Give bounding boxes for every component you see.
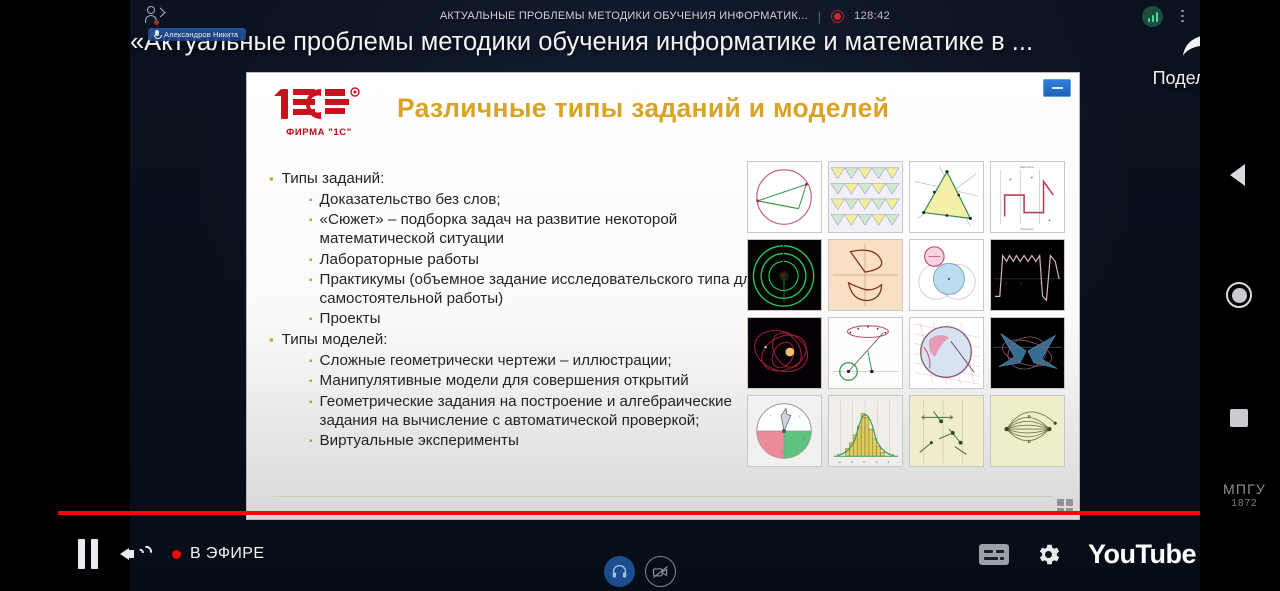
- sub-bullet-marker-icon: ▪: [309, 351, 313, 367]
- field-lines-sketch: [990, 395, 1065, 467]
- headphones-icon: [611, 563, 628, 580]
- bullet-item-text: Геометрические задания на построение и а…: [320, 392, 764, 430]
- bullet-item-text: Манипулятивные модели для совершения отк…: [320, 371, 689, 390]
- svg-text:-2: -2: [850, 460, 853, 464]
- bullet-item: ▪ Лабораторные работы: [309, 250, 764, 269]
- svg-text:3: 3: [799, 414, 801, 418]
- logo-caption: ФИРМА "1С": [269, 127, 369, 138]
- svg-text:Минимум: Минимум: [1021, 227, 1034, 231]
- square-wave-plot: -202: [990, 239, 1065, 311]
- video-title: «Актуальные проблемы методики обучения и…: [130, 28, 1140, 57]
- pink-sphere-field: [909, 317, 984, 389]
- svg-text:2: 2: [876, 460, 878, 464]
- green-spiral-orbit: [747, 239, 822, 311]
- gear-icon[interactable]: [1035, 541, 1062, 568]
- bullet-marker-icon: ▪: [269, 169, 274, 186]
- subtitles-icon[interactable]: [979, 544, 1009, 565]
- pendulum-mechanism: [828, 317, 903, 389]
- svg-text:1: 1: [769, 412, 771, 416]
- svg-text:-2: -2: [1005, 282, 1008, 286]
- cardioid-curve: [828, 239, 903, 311]
- left-letterbox: [0, 0, 130, 591]
- red-orbit-rings: [747, 317, 822, 389]
- slide-title: Различные типы заданий и моделей: [397, 93, 1057, 124]
- logo-mark-1c: [269, 85, 369, 125]
- speaker-name-badge: Александров Никита: [148, 28, 246, 41]
- record-icon: [831, 10, 844, 23]
- camera-off-chip[interactable]: [645, 556, 676, 587]
- slide-body: ▪ Типы заданий: ▪ Доказательство без сло…: [247, 139, 1079, 519]
- svg-text:0: 0: [863, 460, 865, 464]
- camera-off-icon: [652, 565, 669, 579]
- sub-bullet-marker-icon: ▪: [309, 210, 313, 226]
- company-logo: ФИРМА "1С": [269, 85, 369, 138]
- tessellation-pattern: [828, 161, 903, 233]
- thumbnail-grid: Максимум Минимум: [747, 161, 1065, 467]
- presentation-slide[interactable]: ФИРМА "1С" Различные типы заданий и моде…: [246, 72, 1080, 520]
- bullet-item-text: «Сюжет» – подборка задач на развитие нек…: [320, 210, 764, 248]
- topbar-center-group: АКТУАЛЬНЫЕ ПРОБЛЕМЫ МЕТОДИКИ ОБУЧЕНИЯ ИН…: [280, 9, 1050, 24]
- media-chips: [604, 556, 676, 587]
- progress-fill: [58, 511, 1280, 515]
- nav-back-button[interactable]: [1230, 164, 1245, 186]
- probability-spinner: 12345: [747, 395, 822, 467]
- bullet-item-text: Виртуальные эксперименты: [320, 431, 519, 450]
- svg-text:5: 5: [781, 449, 783, 453]
- bullet-item: ▪ Проекты: [309, 309, 764, 328]
- nav-recents-button[interactable]: [1230, 409, 1248, 427]
- vector-field-sketch: [909, 395, 984, 467]
- normal-distribution-histogram: -4-2024: [828, 395, 903, 467]
- meeting-title: АКТУАЛЬНЫЕ ПРОБЛЕМЫ МЕТОДИКИ ОБУЧЕНИЯ ИН…: [440, 10, 808, 22]
- triangle-construction: [909, 161, 984, 233]
- video-progress-bar[interactable]: [0, 509, 1280, 517]
- slide-divider: [273, 496, 1053, 497]
- topbar-left-group: [130, 5, 280, 27]
- bullet-item: ▪ Практикумы (объемное задание исследова…: [309, 270, 764, 308]
- live-indicator[interactable]: В ЭФИРЕ: [172, 545, 264, 563]
- svg-text:Максимум: Максимум: [1020, 165, 1034, 169]
- sub-bullet-marker-icon: ▪: [309, 190, 313, 206]
- sub-bullet-marker-icon: ▪: [309, 392, 313, 408]
- bullet-item-text: Сложные геометрически чертежи – иллюстра…: [320, 351, 672, 370]
- bullet-item-text: Лабораторные работы: [320, 250, 479, 269]
- bullet-item-text: Проекты: [320, 309, 381, 328]
- sub-bullet-marker-icon: ▪: [309, 270, 313, 286]
- sub-bullet-marker-icon: ▪: [309, 371, 313, 387]
- person-share-icon: [144, 5, 166, 27]
- bullet-item: ▪ Сложные геометрически чертежи – иллюст…: [309, 351, 764, 370]
- sub-bullet-marker-icon: ▪: [309, 250, 313, 266]
- bullet-item: ▪ Геометрические задания на построение и…: [309, 392, 764, 430]
- elapsed-time: 128:42: [854, 10, 890, 22]
- controls-left-group: В ЭФИРЕ: [0, 539, 264, 569]
- bullet-item: ▪ «Сюжет» – подборка задач на развитие н…: [309, 210, 764, 248]
- slide-bullets: ▪ Типы заданий: ▪ Доказательство без сло…: [269, 167, 764, 451]
- circle-chords-diagram: [747, 161, 822, 233]
- bullet-item-text: Доказательство без слов;: [320, 190, 501, 209]
- slide-header: ФИРМА "1С" Различные типы заданий и моде…: [247, 73, 1079, 139]
- sub-bullet-marker-icon: ▪: [309, 431, 313, 447]
- bullet-item: ▪ Виртуальные эксперименты: [309, 431, 764, 450]
- bullet-heading-text: Типы заданий:: [282, 169, 385, 188]
- bullet-heading-text: Типы моделей:: [282, 330, 388, 349]
- bullet-item: ▪ Доказательство без слов;: [309, 190, 764, 209]
- polyline-graph: Максимум Минимум: [990, 161, 1065, 233]
- conference-topbar: АКТУАЛЬНЫЕ ПРОБЛЕМЫ МЕТОДИКИ ОБУЧЕНИЯ ИН…: [130, 0, 1200, 32]
- kebab-menu-icon[interactable]: [1175, 8, 1190, 25]
- volume-icon[interactable]: [120, 541, 150, 567]
- watermark-name: МПГУ: [1223, 481, 1266, 497]
- topbar-separator: |: [818, 9, 821, 24]
- institution-watermark: МПГУ 1872: [1223, 481, 1266, 509]
- live-dot: [172, 550, 181, 559]
- bullet-item-text: Практикумы (объемное задание исследовате…: [320, 270, 764, 308]
- svg-text:2: 2: [784, 408, 786, 412]
- sub-bullet-marker-icon: ▪: [309, 309, 313, 325]
- bullet-marker-icon: ▪: [269, 330, 274, 347]
- screen-root: АКТУАЛЬНЫЕ ПРОБЛЕМЫ МЕТОДИКИ ОБУЧЕНИЯ ИН…: [0, 0, 1280, 591]
- overlapping-circles: [909, 239, 984, 311]
- bullet-heading: ▪ Типы заданий:: [269, 169, 764, 188]
- bullet-item: ▪ Манипулятивные модели для совершения о…: [309, 371, 764, 390]
- blue-butterfly-surface: [990, 317, 1065, 389]
- watermark-year: 1872: [1223, 498, 1266, 509]
- bullet-heading: ▪ Типы моделей:: [269, 330, 764, 349]
- svg-text:4: 4: [802, 437, 804, 441]
- speaker-name-label: Александров Никита: [164, 30, 238, 39]
- svg-text:-4: -4: [838, 460, 841, 464]
- pause-button[interactable]: [78, 539, 98, 569]
- nav-home-button[interactable]: [1226, 282, 1252, 308]
- live-label: В ЭФИРЕ: [190, 545, 264, 563]
- system-navigation-bar: МПГУ 1872: [1200, 0, 1280, 591]
- audio-headset-chip[interactable]: [604, 556, 635, 587]
- svg-text:4: 4: [887, 460, 889, 464]
- microphone-icon: [153, 30, 160, 39]
- brand-label: YouTube: [1088, 539, 1196, 570]
